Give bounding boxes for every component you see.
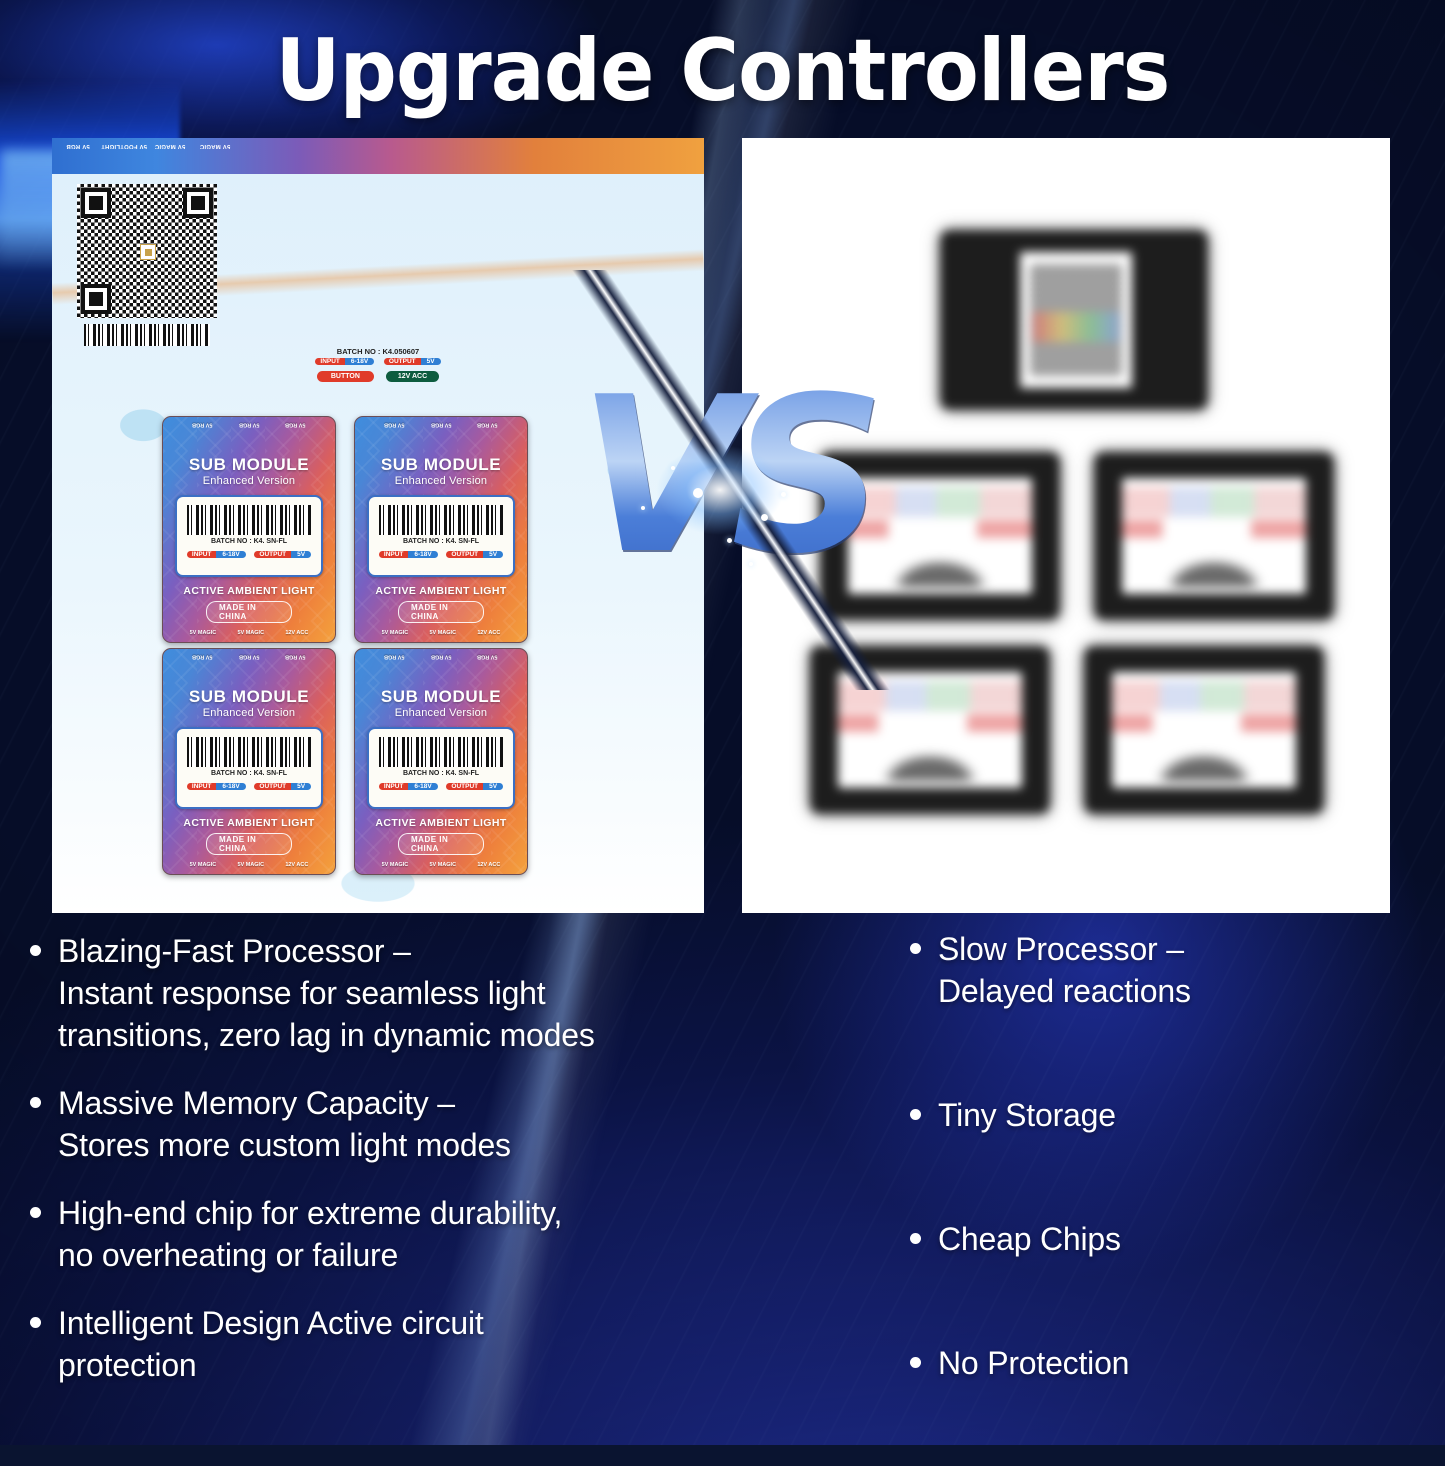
pros-item: Blazing-Fast Processor – Instant respons… (30, 930, 700, 1056)
sub2-output-key: OUTPUT (446, 551, 483, 558)
sub3-batch-number: BATCH NO : K4. SN-FL (177, 770, 321, 777)
competitor-main-module (940, 230, 1208, 410)
sub3-output-key: OUTPUT (254, 783, 291, 790)
sub1-bottom-label-1: 5V MAGIC (237, 630, 264, 637)
sub2-subtitle: Enhanced Version (355, 475, 527, 487)
sub3-bottom-ports: 5V MAGIC 5V MAGIC 12V ACC (163, 862, 335, 869)
main-input-value: 6-18V (345, 358, 374, 365)
competitor-sub-module-2 (1094, 452, 1334, 620)
sub3-title: SUB MODULE (163, 687, 335, 707)
button-pill: BUTTON (317, 371, 374, 382)
sub4-top-ports: 5V RGB 5V RGB 5V RGB (355, 653, 527, 660)
sub1-top-label-1: 5V RGB (239, 421, 259, 428)
sub3-bottom-label-0: 5V MAGIC (190, 862, 217, 869)
sub4-bottom-label-0: 5V MAGIC (382, 862, 409, 869)
main-output-badge: OUTPUT 5V (384, 358, 441, 365)
competitor-sub-module-1 (820, 452, 1060, 620)
competitor-sub-module-3 (810, 646, 1050, 814)
bullet-dot-icon (910, 1357, 921, 1368)
sub4-output-value: 5V (483, 783, 503, 790)
sub4-bottom-ports: 5V MAGIC 5V MAGIC 12V ACC (355, 862, 527, 869)
sub1-top-label-2: 5V RGB (285, 421, 305, 428)
cons-item: Tiny Storage (910, 1094, 1430, 1136)
sub2-label-card: BATCH NO : K4. SN-FL INPUT 6-18V OUTPUT … (367, 495, 515, 577)
competitor-qr-tint (1033, 312, 1118, 342)
competitor-stripe-top (1112, 681, 1296, 711)
sub1-output-badge: OUTPUT 5V (254, 551, 311, 558)
main-port-label-1: 5V FOOTLIGHT (100, 142, 148, 149)
sub3-barcode (187, 737, 311, 767)
upgraded-products-panel: 5V RGB 5V FOOTLIGHT 5V MAGIC 5V MAGIC BA… (52, 138, 704, 913)
main-controller-module: 5V RGB 5V FOOTLIGHT 5V MAGIC 5V MAGIC BA… (52, 138, 244, 370)
qr-finder-bottom-left (81, 284, 111, 314)
bullet-dot-icon (910, 1233, 921, 1244)
sub2-input-key: INPUT (379, 551, 409, 558)
main-module-port-strip: 5V RGB 5V FOOTLIGHT 5V MAGIC 5V MAGIC (52, 138, 704, 174)
sub4-title: SUB MODULE (355, 687, 527, 707)
sub2-output-value: 5V (483, 551, 503, 558)
sub-module-3: 5V RGB 5V RGB 5V RGB SUB MODULE Enhanced… (162, 648, 336, 875)
sub3-footer: ACTIVE AMBIENT LIGHT (163, 817, 335, 829)
qr-finder-top-left (81, 188, 111, 218)
competitor-products-panel (742, 138, 1390, 913)
cons-item: Cheap Chips (910, 1218, 1430, 1260)
sub-module-2: 5V RGB 5V RGB 5V RGB SUB MODULE Enhanced… (354, 416, 528, 643)
sub3-subtitle: Enhanced Version (163, 707, 335, 719)
sub4-batch-number: BATCH NO : K4. SN-FL (369, 770, 513, 777)
sub4-made-in: MADE IN CHINA (398, 833, 484, 855)
sub4-output-badge: OUTPUT 5V (446, 783, 503, 790)
competitor-stripe-mid (1122, 520, 1306, 539)
cons-item: Slow Processor – Delayed reactions (910, 928, 1430, 1012)
sub4-barcode (379, 737, 503, 767)
sub2-footer: ACTIVE AMBIENT LIGHT (355, 585, 527, 597)
main-port-label-2: 5V MAGIC (150, 142, 190, 149)
sub3-input-value: 6-18V (216, 783, 245, 790)
competitor-label-2 (1122, 478, 1306, 594)
sub2-barcode (379, 505, 503, 535)
sub3-spec-row: INPUT 6-18V OUTPUT 5V (177, 783, 321, 790)
sub1-output-key: OUTPUT (254, 551, 291, 558)
bullet-dot-icon (30, 945, 41, 956)
sub3-label-card: BATCH NO : K4. SN-FL INPUT 6-18V OUTPUT … (175, 727, 323, 809)
competitor-stripe-top (838, 681, 1022, 711)
sub1-label-card: BATCH NO : K4. SN-FL INPUT 6-18V OUTPUT … (175, 495, 323, 577)
pros-item-text: Blazing-Fast Processor – Instant respons… (58, 930, 700, 1056)
sub1-made-in: MADE IN CHINA (206, 601, 292, 623)
sub2-input-value: 6-18V (408, 551, 437, 558)
cons-item-text: No Protection (938, 1342, 1430, 1384)
competitor-stripe-mid (1112, 714, 1296, 733)
main-spec-row: INPUT 6-18V OUTPUT 5V (52, 358, 704, 365)
competitor-label-1 (848, 478, 1032, 594)
sub4-top-label-1: 5V RGB (431, 653, 451, 660)
sub1-barcode (187, 505, 311, 535)
sub2-spec-row: INPUT 6-18V OUTPUT 5V (369, 551, 513, 558)
main-pill-row: BUTTON 12V ACC (52, 371, 704, 382)
sub1-output-value: 5V (291, 551, 311, 558)
bullet-dot-icon (30, 1317, 41, 1328)
sub-module-4: 5V RGB 5V RGB 5V RGB SUB MODULE Enhanced… (354, 648, 528, 875)
sub1-bottom-label-0: 5V MAGIC (190, 630, 217, 637)
sub3-top-label-1: 5V RGB (239, 653, 259, 660)
competitor-sub-module-4 (1084, 646, 1324, 814)
pros-item: High-end chip for extreme durability, no… (30, 1192, 700, 1276)
competitor-stripe-top (848, 487, 1032, 517)
sub4-bottom-label-1: 5V MAGIC (429, 862, 456, 869)
cons-list: Slow Processor – Delayed reactions Tiny … (910, 928, 1430, 1466)
sub3-top-label-0: 5V RGB (192, 653, 212, 660)
pros-item: Massive Memory Capacity – Stores more cu… (30, 1082, 700, 1166)
sub1-footer: ACTIVE AMBIENT LIGHT (163, 585, 335, 597)
competitor-qr-label (1020, 252, 1132, 388)
page-title: Upgrade Controllers (51, 28, 1395, 114)
sub2-input-badge: INPUT 6-18V (379, 551, 438, 558)
competitor-stripe-mid (838, 714, 1022, 733)
sub4-top-label-2: 5V RGB (477, 653, 497, 660)
sub1-batch-number: BATCH NO : K4. SN-FL (177, 538, 321, 545)
sub2-batch-number: BATCH NO : K4. SN-FL (369, 538, 513, 545)
cons-item-text: Cheap Chips (938, 1218, 1430, 1260)
sub2-title: SUB MODULE (355, 455, 527, 475)
competitor-barcode-blur (1162, 541, 1265, 587)
sub4-input-value: 6-18V (408, 783, 437, 790)
sub1-input-key: INPUT (187, 551, 217, 558)
sub1-bottom-label-2: 12V ACC (285, 630, 308, 637)
sub2-top-ports: 5V RGB 5V RGB 5V RGB (355, 421, 527, 428)
sub3-bottom-label-1: 5V MAGIC (237, 862, 264, 869)
sub-module-1: 5V RGB 5V RGB 5V RGB SUB MODULE Enhanced… (162, 416, 336, 643)
sub4-label-card: BATCH NO : K4. SN-FL INPUT 6-18V OUTPUT … (367, 727, 515, 809)
cons-item-text: Slow Processor – Delayed reactions (938, 928, 1430, 1012)
barcode (84, 324, 210, 346)
sub3-made-in: MADE IN CHINA (206, 833, 292, 855)
qr-finder-top-right (183, 188, 213, 218)
main-port-label-0: 5V RGB (58, 142, 98, 149)
sub1-input-value: 6-18V (216, 551, 245, 558)
sub4-input-badge: INPUT 6-18V (379, 783, 438, 790)
bullet-dot-icon (30, 1097, 41, 1108)
sub1-spec-row: INPUT 6-18V OUTPUT 5V (177, 551, 321, 558)
pros-item-text: High-end chip for extreme durability, no… (58, 1192, 700, 1276)
sub4-subtitle: Enhanced Version (355, 707, 527, 719)
sub2-top-label-0: 5V RGB (384, 421, 404, 428)
main-port-label-3: 5V MAGIC (194, 142, 236, 149)
brand-logo-icon (140, 244, 156, 260)
sub1-title: SUB MODULE (163, 455, 335, 475)
competitor-stripe-mid (848, 520, 1032, 539)
sub4-footer: ACTIVE AMBIENT LIGHT (355, 817, 527, 829)
main-output-value: 5V (421, 358, 441, 365)
cons-item: No Protection (910, 1342, 1430, 1384)
sub1-input-badge: INPUT 6-18V (187, 551, 246, 558)
sub3-top-label-2: 5V RGB (285, 653, 305, 660)
sub2-bottom-ports: 5V MAGIC 5V MAGIC 12V ACC (355, 630, 527, 637)
sub3-bottom-label-2: 12V ACC (285, 862, 308, 869)
sub2-output-badge: OUTPUT 5V (446, 551, 503, 558)
competitor-label-3 (838, 672, 1022, 788)
sub4-input-key: INPUT (379, 783, 409, 790)
sub2-made-in: MADE IN CHINA (398, 601, 484, 623)
pros-item-text: Massive Memory Capacity – Stores more cu… (58, 1082, 700, 1166)
sub1-subtitle: Enhanced Version (163, 475, 335, 487)
pros-item-text: Intelligent Design Active circuit protec… (58, 1302, 700, 1386)
sub2-bottom-label-2: 12V ACC (477, 630, 500, 637)
sub3-top-ports: 5V RGB 5V RGB 5V RGB (163, 653, 335, 660)
sub2-top-label-1: 5V RGB (431, 421, 451, 428)
sub4-top-label-0: 5V RGB (384, 653, 404, 660)
main-input-badge: INPUT 6-18V (315, 358, 374, 365)
sub2-top-label-2: 5V RGB (477, 421, 497, 428)
acc-pill: 12V ACC (386, 371, 439, 382)
sub3-input-key: INPUT (187, 783, 217, 790)
sub1-top-label-0: 5V RGB (192, 421, 212, 428)
sub2-bottom-label-0: 5V MAGIC (382, 630, 409, 637)
sub3-output-badge: OUTPUT 5V (254, 783, 311, 790)
qr-code (77, 184, 217, 318)
sub3-input-badge: INPUT 6-18V (187, 783, 246, 790)
competitor-label-4 (1112, 672, 1296, 788)
sub4-bottom-label-2: 12V ACC (477, 862, 500, 869)
competitor-barcode-blur (888, 541, 991, 587)
main-input-key: INPUT (315, 358, 345, 365)
pros-item: Intelligent Design Active circuit protec… (30, 1302, 700, 1386)
main-output-key: OUTPUT (384, 358, 421, 365)
competitor-stripe-top (1122, 487, 1306, 517)
competitor-barcode-blur (878, 735, 981, 781)
sub2-bottom-label-1: 5V MAGIC (429, 630, 456, 637)
sub4-output-key: OUTPUT (446, 783, 483, 790)
competitor-barcode-blur (1152, 735, 1255, 781)
bullet-dot-icon (910, 943, 921, 954)
sub1-bottom-ports: 5V MAGIC 5V MAGIC 12V ACC (163, 630, 335, 637)
sub3-output-value: 5V (291, 783, 311, 790)
sub4-spec-row: INPUT 6-18V OUTPUT 5V (369, 783, 513, 790)
main-batch-number: BATCH NO : K4.050607 (52, 347, 704, 356)
bullet-dot-icon (30, 1207, 41, 1218)
bullet-dot-icon (910, 1109, 921, 1120)
sub1-top-ports: 5V RGB 5V RGB 5V RGB (163, 421, 335, 428)
pros-list: Blazing-Fast Processor – Instant respons… (30, 930, 700, 1412)
cons-item-text: Tiny Storage (938, 1094, 1430, 1136)
